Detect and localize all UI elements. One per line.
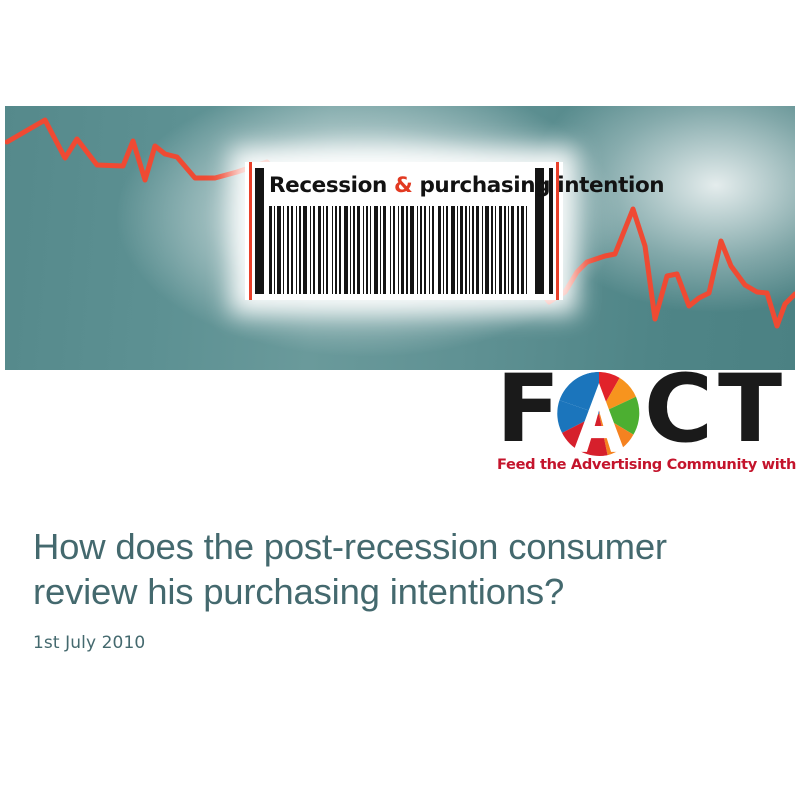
barcode-title-suffix: purchasing intention [412, 173, 664, 198]
fact-wordmark: F C T [496, 370, 796, 458]
logo-color-wheel-a-icon [556, 371, 642, 457]
barcode-graphic: Recession & purchasing intention [245, 162, 563, 300]
logo-tagline: Feed the Advertising Community with Tren… [497, 456, 797, 473]
fact-logo: F C T Feed the Advertising Comm [496, 370, 796, 482]
barcode-title-ampersand: & [394, 173, 412, 198]
recession-banner-image: Recession & purchasing intention [5, 106, 795, 370]
page-title: How does the post-recession consumer rev… [33, 524, 753, 614]
barcode-bars [269, 206, 529, 294]
barcode-title-prefix: Recession [269, 173, 394, 198]
title-block: How does the post-recession consumer rev… [33, 524, 753, 653]
logo-letter-f: F [496, 366, 557, 454]
logo-letter-t: T [718, 366, 779, 454]
slide-date: 1st July 2010 [33, 633, 753, 653]
barcode-accent-rail-left [249, 162, 252, 300]
barcode-guard-bar-left [255, 168, 264, 294]
barcode-space [527, 206, 529, 294]
barcode-title-text: Recession & purchasing intention [269, 168, 529, 204]
line-chart-path-right [565, 209, 795, 326]
logo-letter-c: C [644, 366, 710, 454]
